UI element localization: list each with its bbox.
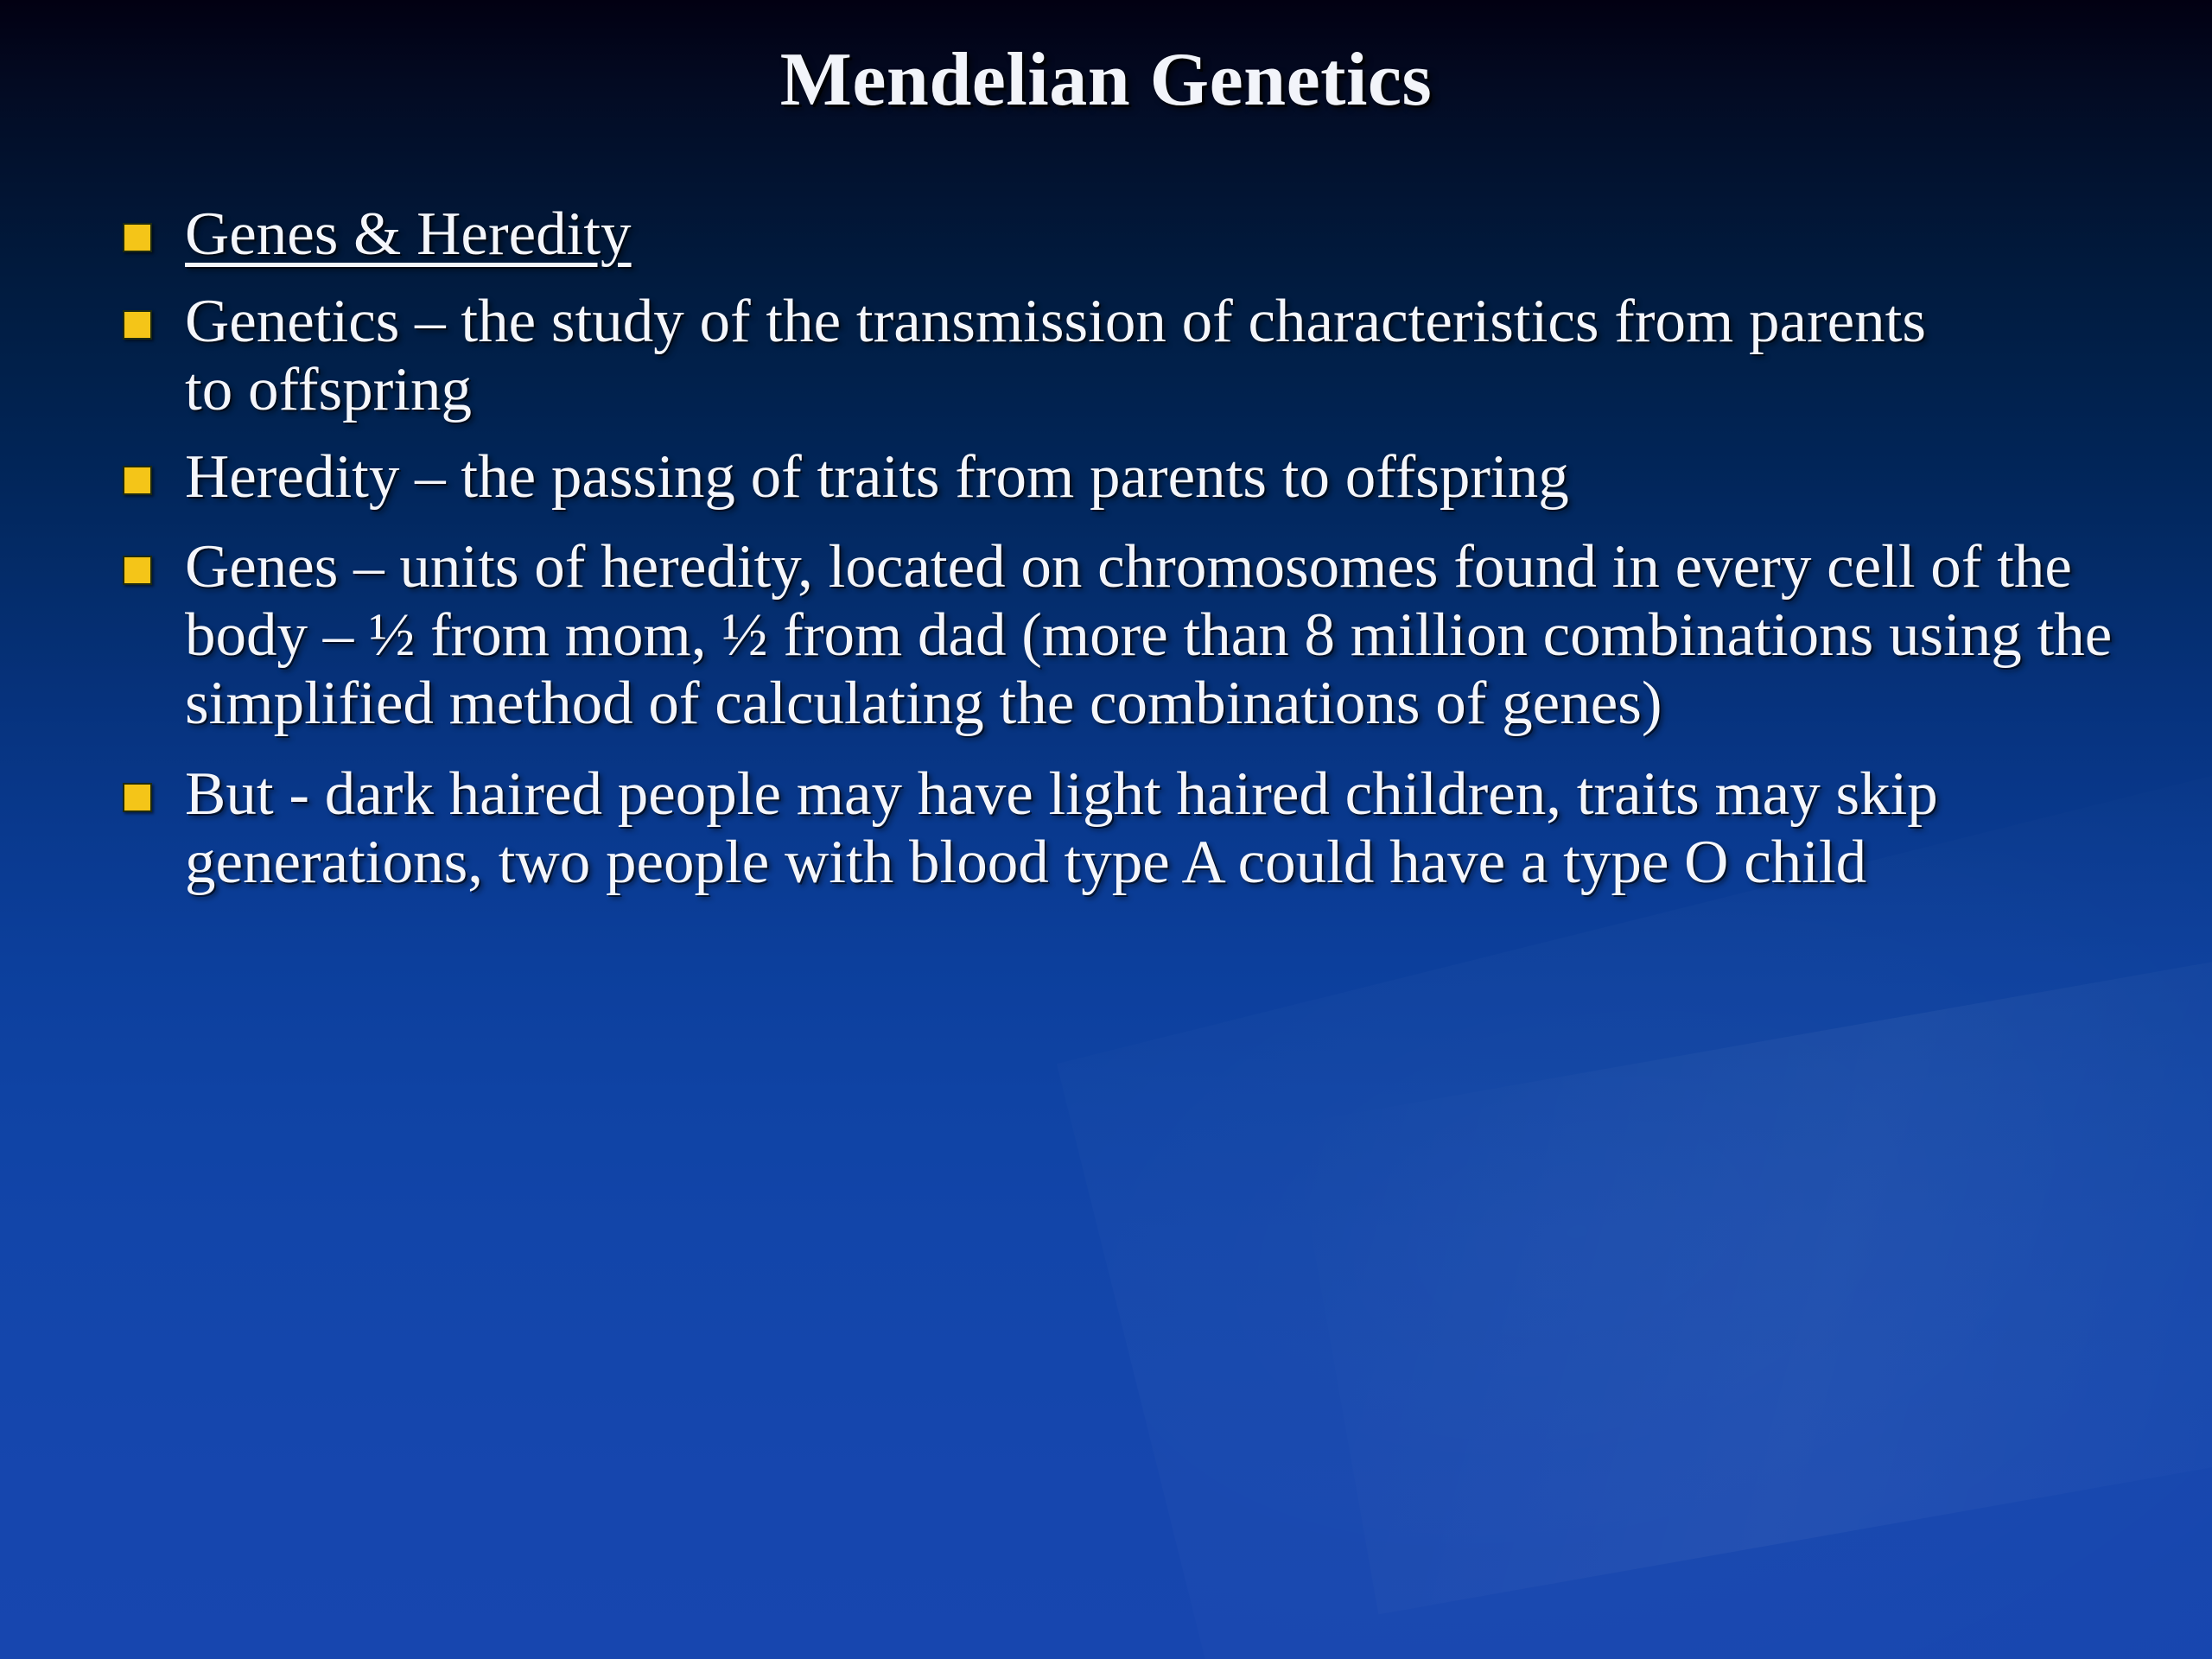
slide-body-content: Genes & Heredity Genetics – the study of… [123, 200, 2136, 897]
bullet-text: Heredity – the passing of traits from pa… [185, 443, 1965, 512]
bullet-text: Genes – units of heredity, located on ch… [185, 533, 2136, 738]
slide-title: Mendelian Genetics [0, 36, 2212, 124]
bullet-text: But - dark haired people may have light … [185, 760, 2112, 897]
square-bullet-icon [123, 783, 152, 812]
square-bullet-icon [123, 556, 152, 585]
square-bullet-icon [123, 310, 152, 340]
bullet-item: Genes – units of heredity, located on ch… [123, 533, 2136, 738]
bullet-item: But - dark haired people may have light … [123, 760, 2136, 897]
bullet-text: Genes & Heredity [185, 200, 2136, 269]
presentation-slide: Mendelian Genetics Genes & Heredity Gene… [0, 0, 2212, 1659]
bullet-item: Genes & Heredity [123, 200, 2136, 269]
bullet-text: Genetics – the study of the transmission… [185, 288, 1965, 424]
background-sheen-right [1292, 940, 2212, 1615]
square-bullet-icon [123, 466, 152, 495]
square-bullet-icon [123, 223, 152, 252]
bullet-item: Heredity – the passing of traits from pa… [123, 443, 2136, 512]
bullet-item: Genetics – the study of the transmission… [123, 288, 2136, 424]
